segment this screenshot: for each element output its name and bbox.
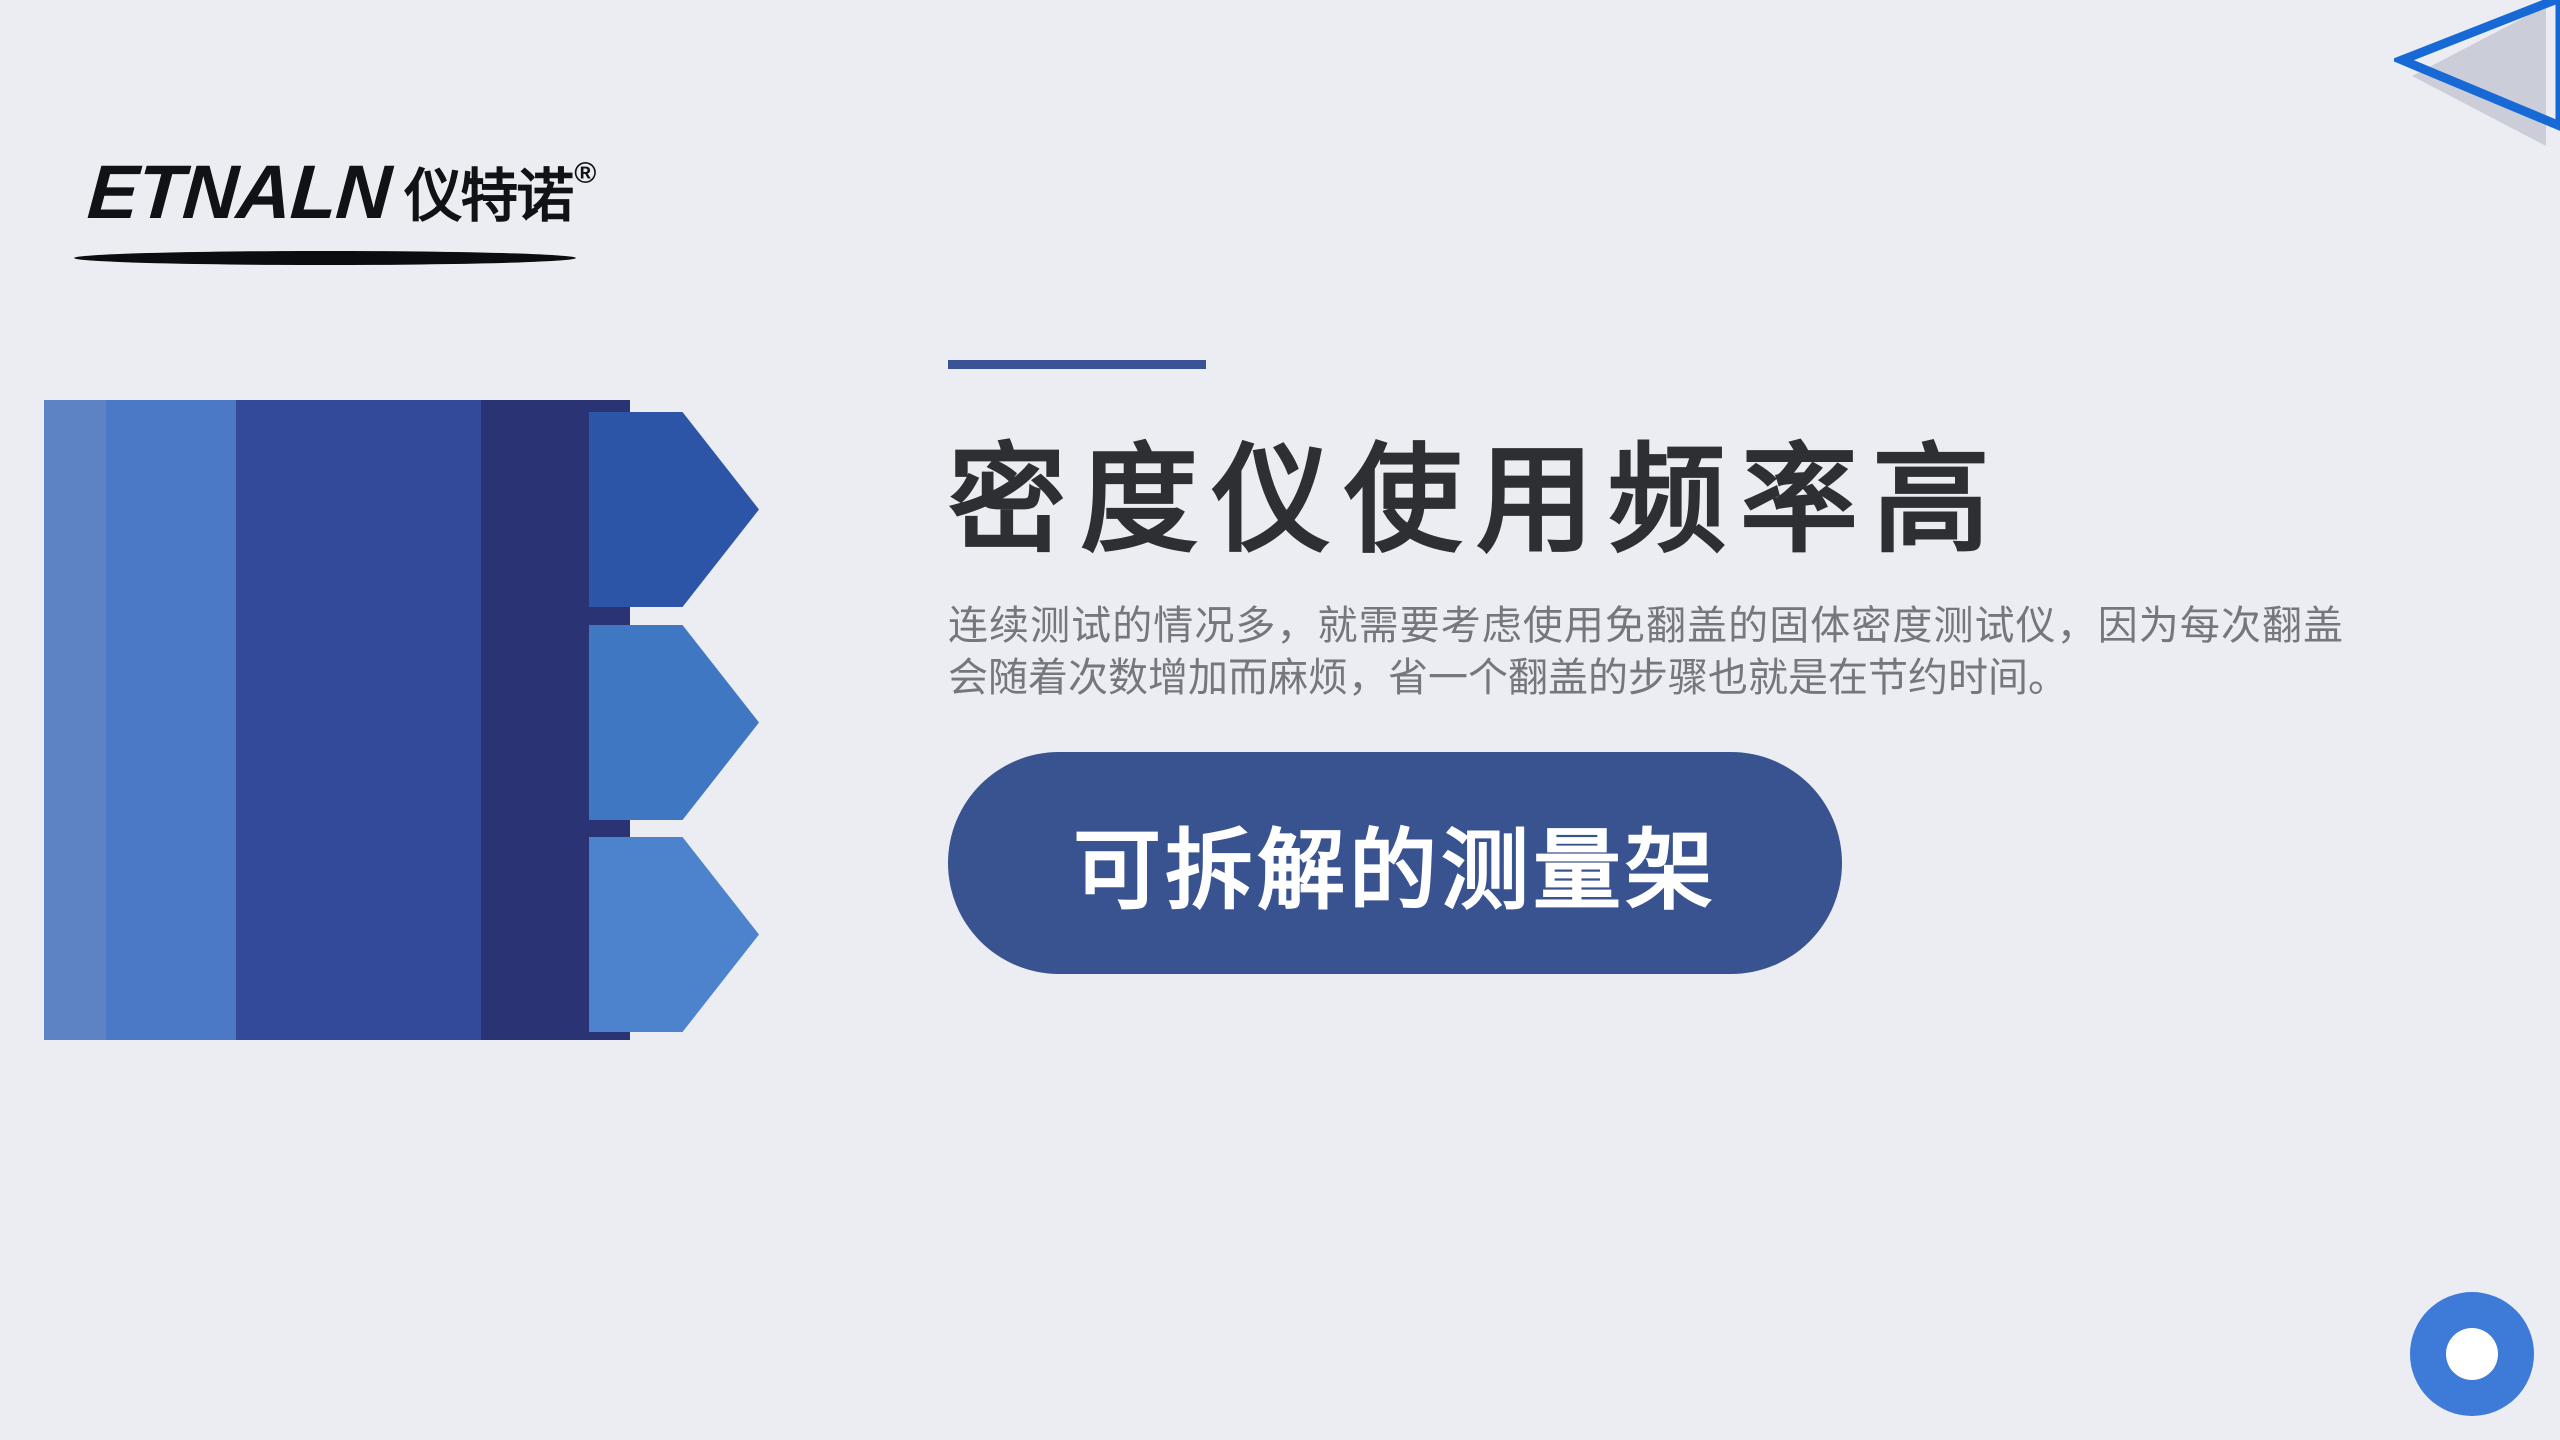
page-title: 密度仪使用频率高 [948,437,2368,564]
logo-latin-text: ETNALN [85,155,393,231]
color-band-2 [106,400,236,1040]
triangle-ornament [2394,0,2560,154]
cta-button[interactable]: 可拆解的测量架 [948,752,1842,974]
brand-logo: ETNALN 仪特诺 ® [88,155,648,285]
left-decorative-graphic [44,400,784,1040]
cta-wrapper: 可拆解的测量架 [948,752,2368,974]
chevron-arrow-icon-1 [589,412,759,607]
chevron-arrow-icon-2 [589,625,759,820]
donut-circle-hole [2446,1328,2498,1380]
donut-circle-icon [2410,1292,2534,1416]
logo-wordmark: ETNALN 仪特诺 ® [88,155,596,231]
left-pointing-triangle-icon [2394,0,2560,154]
content-column: 密度仪使用频率高 连续测试的情况多，就需要考虑使用免翻盖的固体密度测试仪，因为每… [948,360,2368,974]
chevron-arrow-icon-3 [589,837,759,1032]
banner-canvas: ETNALN 仪特诺 ® 密度仪使用频率高 连续测试的情况多，就需要考虑使用免翻… [0,0,2560,1440]
accent-bar [948,360,1206,369]
color-band-1 [44,400,106,1040]
logo-chinese-text: 仪特诺 [404,167,572,225]
body-paragraph: 连续测试的情况多，就需要考虑使用免翻盖的固体密度测试仪，因为每次翻盖会随着次数增… [948,600,2343,704]
logo-underline-rule [74,251,576,265]
color-band-3 [236,400,481,1040]
registered-trademark-icon: ® [574,159,596,189]
